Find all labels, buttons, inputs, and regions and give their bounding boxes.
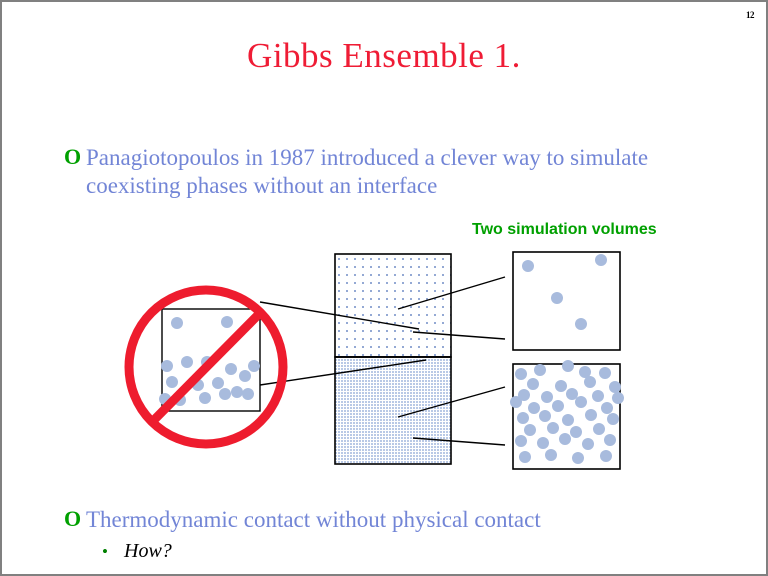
- caption-two-simulation-volumes: Two simulation volumes: [472, 221, 657, 239]
- liquid-simulation-box-group: [510, 360, 624, 469]
- vapor-simulation-box-group: [513, 252, 620, 350]
- sub-bullet-item-1: • How?: [102, 540, 172, 563]
- liquid-phase-region: [335, 357, 451, 464]
- sub-bullet-text-1: How?: [124, 540, 172, 563]
- center-two-phase-column: [335, 254, 451, 464]
- bullet-text-1: Panagiotopoulos in 1987 introduced a cle…: [86, 144, 744, 200]
- bullet-item-1: O Panagiotopoulos in 1987 introduced a c…: [64, 144, 744, 200]
- bullet-marker-icon: O: [64, 146, 86, 168]
- slide-canvas: 12 Gibbs Ensemble 1.: [0, 0, 768, 576]
- bullet-marker-icon: O: [64, 508, 86, 530]
- sub-bullet-dot-icon: •: [102, 543, 124, 560]
- bullet-text-2: Thermodynamic contact without physical c…: [86, 506, 541, 534]
- gibbs-ensemble-diagram: [2, 2, 768, 576]
- bullet-item-2: O Thermodynamic contact without physical…: [64, 506, 724, 534]
- vapor-phase-region: [335, 254, 451, 357]
